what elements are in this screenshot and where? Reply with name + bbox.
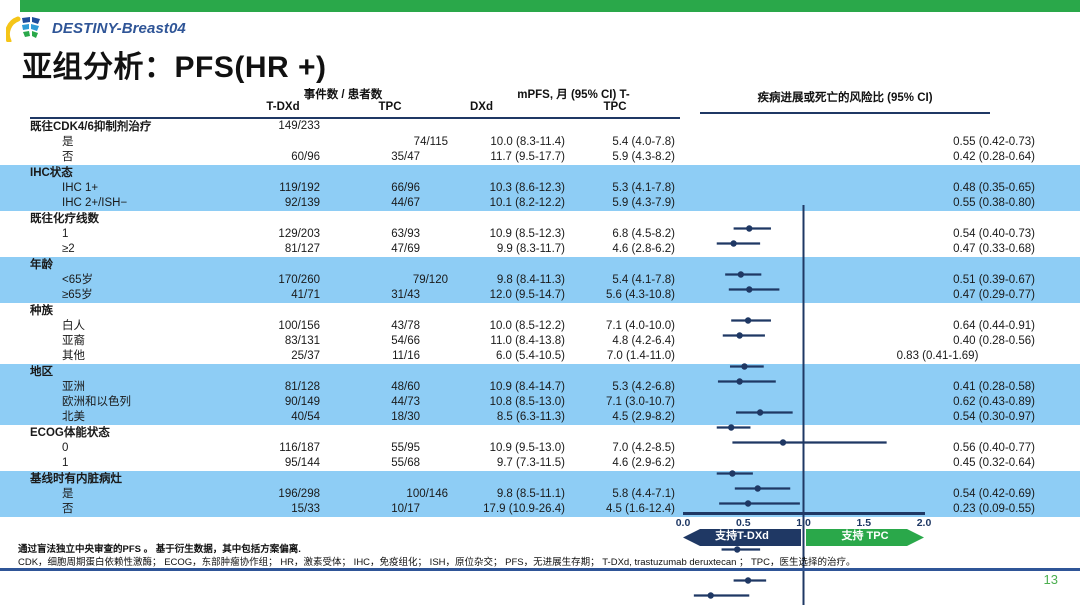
cell-mpfs-tpc: 4.6 (2.8-6.2) (570, 242, 675, 257)
cell-events-tdxd: 149/233 (215, 119, 320, 134)
table-row: 北美40/5418/308.5 (6.3-11.3)4.5 (2.9-8.2)0… (0, 410, 1080, 425)
cell-hazard-ratio: 0.56 (0.40-0.77) (880, 441, 1035, 456)
row-label: <65岁 (62, 273, 93, 288)
column-header-forest: 疾病进展或死亡的风险比 (95% CI) (700, 89, 990, 105)
top-green-banner (0, 0, 1080, 12)
cell-mpfs-tdxd: 10.8 (8.5-13.0) (455, 395, 565, 410)
cell-events-tdxd: 92/139 (215, 196, 320, 211)
cell-mpfs-tpc: 7.0 (1.4-11.0) (570, 349, 675, 364)
cell-hazard-ratio: 0.47 (0.33-0.68) (880, 242, 1035, 257)
row-label: 其他 (62, 349, 85, 364)
cell-events-tpc: 11/16 (330, 349, 420, 364)
cell-events-tdxd: 95/144 (215, 456, 320, 471)
cell-mpfs-tdxd: 11.0 (8.4-13.8) (455, 334, 565, 349)
row-label: 亚洲 (62, 380, 85, 395)
cell-mpfs-tdxd: 9.8 (8.5-11.1) (455, 487, 565, 502)
row-label: 是 (62, 487, 74, 502)
cell-events-tdxd: 119/192 (215, 181, 320, 196)
column-header-tpc: TPC (360, 101, 420, 113)
cell-events-tpc: 43/78 (330, 319, 420, 334)
row-label: 年龄 (30, 257, 53, 273)
table-row: 是74/11510.0 (8.3-11.4)5.4 (4.0-7.8)0.55 … (0, 135, 1080, 150)
cell-hazard-ratio: 0.48 (0.35-0.65) (880, 181, 1035, 196)
cell-mpfs-tdxd: 9.9 (8.3-11.7) (455, 242, 565, 257)
cell-events-tpc: 44/73 (330, 395, 420, 410)
table-row: 否60/9635/4711.7 (9.5-17.7)5.9 (4.3-8.2)0… (0, 150, 1080, 165)
cell-events-tpc: 100/146 (358, 487, 448, 502)
cell-mpfs-tdxd: 10.0 (8.3-11.4) (455, 135, 565, 150)
page-number: 13 (1044, 572, 1058, 587)
cell-events-tdxd: 116/187 (215, 441, 320, 456)
cell-mpfs-tpc: 4.6 (2.9-6.2) (570, 456, 675, 471)
header-rule-right (700, 112, 990, 114)
cell-events-tdxd: 196/298 (215, 487, 320, 502)
cell-mpfs-tdxd: 6.0 (5.4-10.5) (455, 349, 565, 364)
cell-events-tdxd: 129/203 (215, 227, 320, 242)
cell-events-tdxd: 83/131 (215, 334, 320, 349)
table-group-row: ECOG体能状态 (0, 425, 1080, 441)
column-header-mpfs-tpc: TPC (585, 101, 645, 113)
favor-tpc-label: 支持 TPC (806, 528, 924, 545)
table-row: IHC 1+119/19266/9610.3 (8.6-12.3)5.3 (4.… (0, 181, 1080, 196)
row-label: 否 (62, 150, 74, 165)
cell-mpfs-tpc: 5.9 (4.3-7.9) (570, 196, 675, 211)
cell-events-tpc: 74/115 (358, 135, 448, 150)
column-header-mpfs-tdxd: DXd (470, 101, 530, 113)
table-row: ≥281/12747/699.9 (8.3-11.7)4.6 (2.8-6.2)… (0, 242, 1080, 257)
row-label: 欧洲和以色列 (62, 395, 131, 410)
row-label: 北美 (62, 410, 85, 425)
row-label: 是 (62, 135, 74, 150)
cell-events-tpc: 48/60 (330, 380, 420, 395)
cell-events-tpc: 55/68 (330, 456, 420, 471)
row-label: 1 (62, 456, 68, 471)
cell-events-tdxd: 90/149 (215, 395, 320, 410)
cell-hazard-ratio: 0.54 (0.42-0.69) (880, 487, 1035, 502)
table-row: 白人100/15643/7810.0 (8.5-12.2)7.1 (4.0-10… (0, 319, 1080, 334)
table-row: 欧洲和以色列90/14944/7310.8 (8.5-13.0)7.1 (3.0… (0, 395, 1080, 410)
column-header-mpfs: mPFS, 月 (95% CI) T- (466, 86, 681, 102)
cell-events-tpc: 18/30 (330, 410, 420, 425)
row-label: 既往化疗线数 (30, 211, 99, 227)
cell-hazard-ratio: 0.54 (0.30-0.97) (880, 410, 1035, 425)
cell-mpfs-tpc: 5.4 (4.1-7.8) (570, 273, 675, 288)
table-group-row: IHC状态 (0, 165, 1080, 181)
row-label: 亚裔 (62, 334, 85, 349)
cell-hazard-ratio: 0.41 (0.28-0.58) (880, 380, 1035, 395)
cell-mpfs-tpc: 7.1 (3.0-10.7) (570, 395, 675, 410)
cell-mpfs-tdxd: 10.1 (8.2-12.2) (455, 196, 565, 211)
cell-hazard-ratio: 0.83 (0.41-1.69) (860, 349, 1015, 364)
cell-hazard-ratio: 0.51 (0.39-0.67) (880, 273, 1035, 288)
cell-events-tpc: 54/66 (330, 334, 420, 349)
row-label: 地区 (30, 364, 53, 380)
table-row: 是196/298100/1469.8 (8.5-11.1)5.8 (4.4-7.… (0, 487, 1080, 502)
table-body: 既往CDK4/6抑制剂治疗149/233是74/11510.0 (8.3-11.… (0, 119, 1080, 517)
table-row: 亚洲81/12848/6010.9 (8.4-14.7)5.3 (4.2-6.8… (0, 380, 1080, 395)
row-label: 白人 (62, 319, 85, 334)
footnote-line-2: CDK，细胞周期蛋白依赖性激酶； ECOG，东部肿瘤协作组； HR，激素受体； … (18, 554, 856, 568)
row-label: IHC状态 (30, 165, 73, 181)
cell-hazard-ratio: 0.55 (0.38-0.80) (880, 196, 1035, 211)
footnote-line-1: 通过盲法独立中央审查的PFS 。 基于衍生数据，其中包括方案偏离. (18, 541, 301, 555)
table-group-row: 既往化疗线数 (0, 211, 1080, 227)
favor-tdxd-label: 支持T-DXd (683, 528, 801, 545)
cell-events-tpc: 79/120 (358, 273, 448, 288)
row-label: ≥65岁 (62, 288, 93, 303)
row-label: 基线时有内脏病灶 (30, 471, 122, 487)
cell-mpfs-tdxd: 10.9 (8.4-14.7) (455, 380, 565, 395)
cell-mpfs-tpc: 7.1 (4.0-10.0) (570, 319, 675, 334)
cell-mpfs-tdxd: 10.0 (8.5-12.2) (455, 319, 565, 334)
cell-events-tdxd: 25/37 (215, 349, 320, 364)
destiny-breast-logo-icon (6, 14, 48, 42)
row-label: IHC 1+ (62, 181, 98, 196)
cell-mpfs-tpc: 5.3 (4.1-7.8) (570, 181, 675, 196)
cell-mpfs-tpc: 5.4 (4.0-7.8) (570, 135, 675, 150)
cell-hazard-ratio: 0.42 (0.28-0.64) (880, 150, 1035, 165)
cell-mpfs-tdxd: 10.9 (9.5-13.0) (455, 441, 565, 456)
table-group-row: 种族 (0, 303, 1080, 319)
cell-hazard-ratio: 0.64 (0.44-0.91) (880, 319, 1035, 334)
cell-events-tdxd: 60/96 (215, 150, 320, 165)
cell-events-tpc: 35/47 (330, 150, 420, 165)
study-name: DESTINY-Breast04 (52, 20, 186, 37)
cell-events-tpc: 55/95 (330, 441, 420, 456)
cell-mpfs-tpc: 4.5 (2.9-8.2) (570, 410, 675, 425)
cell-hazard-ratio: 0.45 (0.32-0.64) (880, 456, 1035, 471)
column-header-tdxd: T-DXd (248, 101, 318, 113)
cell-hazard-ratio: 0.40 (0.28-0.56) (880, 334, 1035, 349)
table-group-row: 年龄 (0, 257, 1080, 273)
cell-events-tdxd: 40/54 (215, 410, 320, 425)
row-label: ≥2 (62, 242, 75, 257)
table-row: 0116/18755/9510.9 (9.5-13.0)7.0 (4.2-8.5… (0, 441, 1080, 456)
column-header-events: 事件数 / 患者数 (253, 86, 433, 102)
cell-hazard-ratio: 0.55 (0.42-0.73) (880, 135, 1035, 150)
table-row: IHC 2+/ISH−92/13944/6710.1 (8.2-12.2)5.9… (0, 196, 1080, 211)
table-group-row: 地区 (0, 364, 1080, 380)
cell-mpfs-tdxd: 9.7 (7.3-11.5) (455, 456, 565, 471)
cell-events-tpc: 44/67 (330, 196, 420, 211)
cell-events-tdxd: 100/156 (215, 319, 320, 334)
cell-mpfs-tpc: 5.8 (4.4-7.1) (570, 487, 675, 502)
row-label: IHC 2+/ISH− (62, 196, 127, 211)
table-group-row: 基线时有内脏病灶 (0, 471, 1080, 487)
cell-hazard-ratio: 0.62 (0.43-0.89) (880, 395, 1035, 410)
subgroup-table: 事件数 / 患者数 T-DXd TPC mPFS, 月 (95% CI) T- … (0, 86, 1080, 526)
axis-rule (683, 512, 925, 515)
logo-row: DESTINY-Breast04 (6, 14, 186, 42)
table-row: 195/14455/689.7 (7.3-11.5)4.6 (2.9-6.2)0… (0, 456, 1080, 471)
row-label: 0 (62, 441, 68, 456)
cell-mpfs-tpc: 5.9 (4.3-8.2) (570, 150, 675, 165)
cell-events-tdxd: 41/71 (215, 288, 320, 303)
cell-events-tdxd: 81/128 (215, 380, 320, 395)
cell-hazard-ratio: 0.54 (0.40-0.73) (880, 227, 1035, 242)
cell-mpfs-tpc: 4.8 (4.2-6.4) (570, 334, 675, 349)
cell-mpfs-tpc: 5.3 (4.2-6.8) (570, 380, 675, 395)
page-title: 亚组分析：PFS(HR +) (22, 42, 327, 86)
banner-left-cap (0, 0, 20, 12)
cell-events-tpc: 66/96 (330, 181, 420, 196)
cell-hazard-ratio: 0.47 (0.29-0.77) (880, 288, 1035, 303)
cell-mpfs-tpc: 7.0 (4.2-8.5) (570, 441, 675, 456)
cell-events-tdxd: 81/127 (215, 242, 320, 257)
table-row: ≥65岁41/7131/4312.0 (9.5-14.7)5.6 (4.3-10… (0, 288, 1080, 303)
cell-events-tpc: 31/43 (330, 288, 420, 303)
bottom-bar (0, 568, 1080, 571)
table-row: <65岁170/26079/1209.8 (8.4-11.3)5.4 (4.1-… (0, 273, 1080, 288)
table-row: 1129/20363/9310.9 (8.5-12.3)6.8 (4.5-8.2… (0, 227, 1080, 242)
cell-mpfs-tdxd: 10.3 (8.6-12.3) (455, 181, 565, 196)
cell-events-tpc: 63/93 (330, 227, 420, 242)
row-label: 1 (62, 227, 68, 242)
cell-mpfs-tpc: 5.6 (4.3-10.8) (570, 288, 675, 303)
cell-mpfs-tdxd: 12.0 (9.5-14.7) (455, 288, 565, 303)
row-label: ECOG体能状态 (30, 425, 110, 441)
table-row: 其他25/3711/166.0 (5.4-10.5)7.0 (1.4-11.0)… (0, 349, 1080, 364)
cell-events-tdxd: 170/260 (215, 273, 320, 288)
cell-mpfs-tdxd: 9.8 (8.4-11.3) (455, 273, 565, 288)
cell-mpfs-tdxd: 10.9 (8.5-12.3) (455, 227, 565, 242)
cell-mpfs-tpc: 6.8 (4.5-8.2) (570, 227, 675, 242)
row-label: 种族 (30, 303, 53, 319)
cell-events-tpc: 47/69 (330, 242, 420, 257)
cell-mpfs-tdxd: 11.7 (9.5-17.7) (455, 150, 565, 165)
table-row: 亚裔83/13154/6611.0 (8.4-13.8)4.8 (4.2-6.4… (0, 334, 1080, 349)
table-group-row: 既往CDK4/6抑制剂治疗149/233 (0, 119, 1080, 135)
row-label: 既往CDK4/6抑制剂治疗 (30, 119, 151, 135)
cell-mpfs-tdxd: 8.5 (6.3-11.3) (455, 410, 565, 425)
